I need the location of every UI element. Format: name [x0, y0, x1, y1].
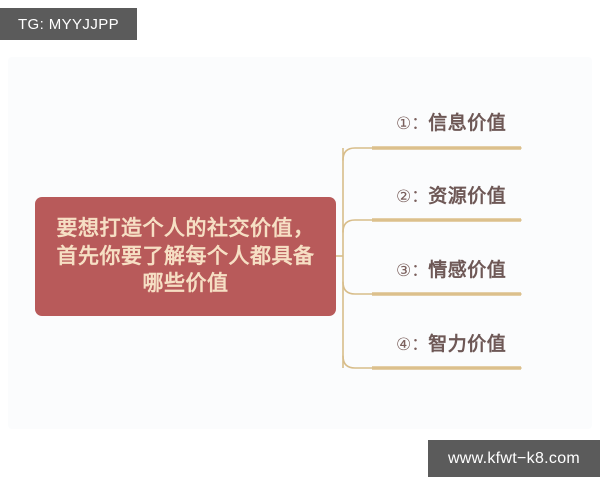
- branch-colon-2: ：: [411, 188, 428, 205]
- branch-colon-3: ：: [411, 262, 428, 279]
- branch-label-1: 信息价值: [428, 114, 506, 133]
- branch-number-1: ①: [396, 115, 411, 132]
- branch-number-2: ②: [396, 188, 411, 205]
- branch-item-3: ③ ： 情感价值: [396, 255, 506, 285]
- mindmap-screenshot: TG: MYYJJPP 要想打造个人的社交价值，首先你要了解每个人都具备哪些价值…: [0, 0, 600, 480]
- branch-label-4: 智力价值: [428, 335, 506, 354]
- central-topic-box: 要想打造个人的社交价值，首先你要了解每个人都具备哪些价值: [35, 197, 336, 316]
- central-topic-text: 要想打造个人的社交价值，首先你要了解每个人都具备哪些价值: [51, 215, 320, 298]
- website-watermark-badge: www.kfwt−k8.com: [428, 440, 600, 477]
- telegram-handle-text: TG: MYYJJPP: [18, 16, 119, 33]
- branch-colon-1: ：: [411, 115, 428, 132]
- branch-item-4: ④ ： 智力价值: [396, 329, 506, 359]
- branch-number-3: ③: [396, 262, 411, 279]
- branch-item-2: ② ： 资源价值: [396, 181, 506, 211]
- branch-label-2: 资源价值: [428, 187, 506, 206]
- telegram-handle-badge: TG: MYYJJPP: [0, 8, 137, 40]
- branch-label-3: 情感价值: [428, 261, 506, 280]
- website-watermark-text: www.kfwt−k8.com: [448, 450, 580, 468]
- branch-number-4: ④: [396, 336, 411, 353]
- branch-colon-4: ：: [411, 336, 428, 353]
- branch-item-1: ① ： 信息价值: [396, 108, 506, 138]
